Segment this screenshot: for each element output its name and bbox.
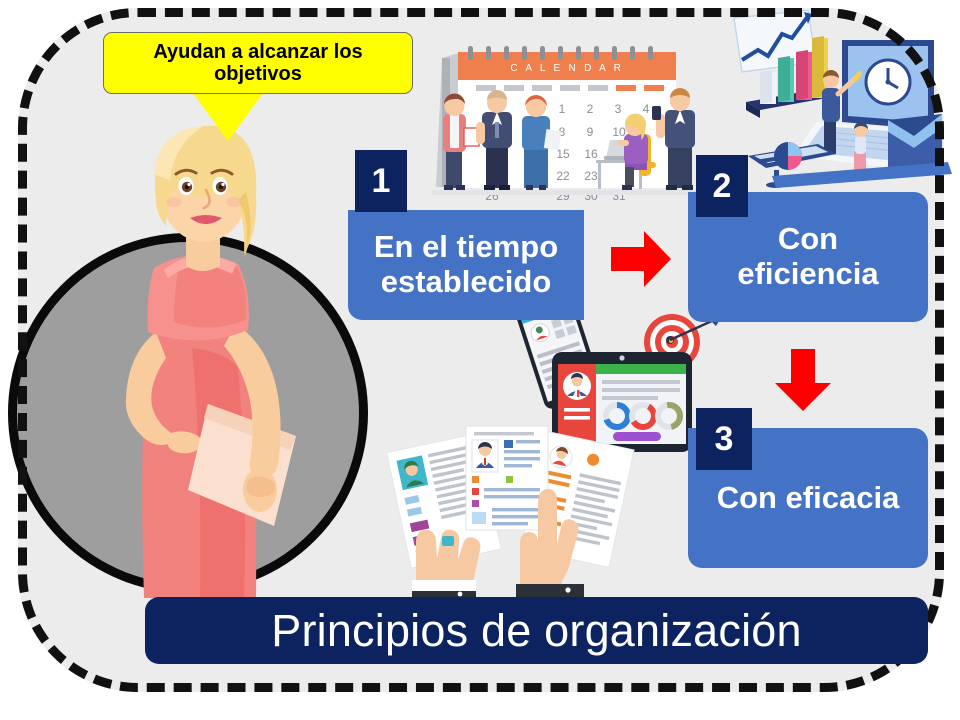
step-card-3-label: Con eficacia — [717, 481, 900, 516]
analytics-laptop-clock-illustration — [712, 10, 952, 210]
svg-text:10: 10 — [612, 125, 626, 139]
step-badge-1-number: 1 — [372, 162, 391, 201]
arrow-step2-to-step3-icon — [773, 349, 833, 411]
calendar-team-illustration: C A L E N D A R 12 34 — [420, 22, 720, 207]
svg-text:23: 23 — [584, 169, 598, 183]
svg-text:3: 3 — [615, 102, 622, 116]
svg-text:1: 1 — [559, 102, 566, 116]
step-badge-3-number: 3 — [715, 420, 734, 459]
step-badge-3: 3 — [696, 408, 752, 470]
step-card-1[interactable]: En el tiempo establecido — [348, 210, 584, 320]
step-badge-2-number: 2 — [713, 167, 732, 206]
svg-text:9: 9 — [587, 125, 594, 139]
svg-text:4: 4 — [643, 102, 650, 116]
svg-text:2: 2 — [587, 102, 594, 116]
page-title: Principios de organización — [271, 605, 802, 657]
step-badge-1: 1 — [355, 150, 407, 212]
svg-text:16: 16 — [584, 147, 598, 161]
svg-text:C A L E N D A R: C A L E N D A R — [510, 63, 623, 74]
svg-text:22: 22 — [556, 169, 570, 183]
poster-title-banner: Principios de organización — [145, 597, 928, 664]
arrow-step1-to-step2-icon — [611, 229, 671, 289]
callout-text: Ayudan a alcanzar los objetivos — [114, 41, 402, 86]
poster-canvas: C A L E N D A R 12 34 — [0, 0, 960, 720]
callout-bubble: Ayudan a alcanzar los objetivos — [103, 32, 413, 94]
hands-holding-resumes-illustration — [372, 412, 640, 602]
step-card-2-label: Con eficiencia — [737, 222, 878, 291]
callout-tail — [193, 93, 263, 141]
step-card-1-label: En el tiempo establecido — [374, 230, 558, 299]
businesswoman-illustration — [60, 118, 330, 598]
step-badge-2: 2 — [696, 155, 748, 217]
